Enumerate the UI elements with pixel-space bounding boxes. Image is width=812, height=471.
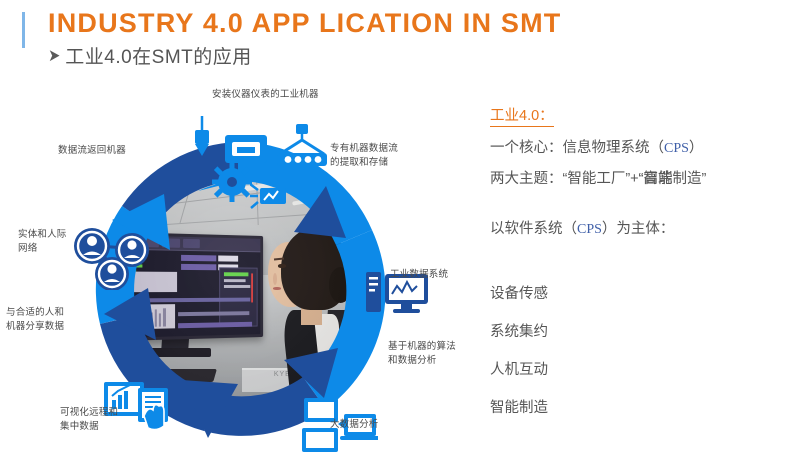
label-top-left: 数据流返回机器	[58, 144, 126, 158]
list-item: 人机互动	[490, 358, 790, 379]
label-bottom-left: 可视化远程和 集中数据	[60, 406, 118, 434]
capability-list: 设备传感 系统集约 人机互动 智能制造	[490, 282, 790, 434]
right-text-panel: 工业4.0： 一个核心：信息物理系统（CPS） 两大主题：“智能工厂”+“智能“…	[490, 104, 808, 251]
instrument-box-icon	[224, 134, 268, 164]
chevron-right-icon: ➤	[48, 47, 60, 64]
cycle-diagram: KYE	[8, 88, 478, 460]
line1-prefix: 一个核心：信息物理系统（	[490, 140, 664, 156]
label-upper-left: 实体和人际 网络	[18, 228, 67, 256]
person-badge	[95, 257, 129, 290]
chip-data-icon	[250, 180, 288, 210]
list-item: 系统集约	[490, 320, 790, 341]
spacer	[490, 200, 808, 220]
right-panel-heading: 工业4.0：	[490, 104, 554, 127]
label-left: 与合适的人和 机器分享数据	[6, 306, 64, 334]
right-panel-line-1: 一个核心：信息物理系统（CPS）	[490, 139, 808, 159]
line1-suffix: ）	[689, 140, 704, 156]
label-bottom: 大数据分析	[330, 418, 379, 432]
person-badge	[74, 228, 110, 264]
cycle-ring-wrapper: KYE	[78, 128, 398, 448]
line3-prefix: 以软件系统（	[490, 221, 577, 237]
page-subtitle: 工业4.0在SMT的应用	[65, 42, 252, 69]
list-item: 智能制造	[490, 396, 790, 417]
overlap-text-b: “高端	[639, 171, 673, 187]
overlapping-text-artifact: “智能“高端	[639, 170, 673, 190]
cps-term: CPS	[664, 141, 689, 156]
label-lower-right: 基于机器的算法 和数据分析	[388, 340, 456, 368]
list-item: 设备传感	[490, 282, 790, 303]
line3-suffix: ）为主体：	[602, 221, 675, 237]
page-title: INDUSTRY 4.0 APP LICATION IN SMT	[48, 8, 561, 39]
gear-icon	[212, 162, 252, 202]
label-upper-right: 专有机器数据流 的提取和存储	[330, 142, 398, 170]
line2-prefix: 两大主题：“智能工厂”+	[490, 171, 639, 187]
conveyor-icon	[274, 124, 330, 170]
sensor-probe-icon	[186, 116, 218, 168]
label-right: 工业数据系统	[390, 268, 448, 282]
subtitle-group: ➤ 工业4.0在SMT的应用	[47, 42, 252, 69]
label-top: 安装仪器仪表的工业机器	[212, 88, 319, 102]
cps-term: CPS	[577, 222, 602, 237]
title-accent-bar	[22, 12, 25, 48]
line2-suffix: 制造”	[672, 171, 706, 187]
right-panel-line-2: 两大主题：“智能工厂”+“智能“高端制造”	[490, 170, 808, 190]
people-network-icon	[70, 224, 156, 290]
slide-root: INDUSTRY 4.0 APP LICATION IN SMT ➤ 工业4.0…	[0, 0, 812, 471]
right-panel-line-3: 以软件系统（CPS）为主体：	[490, 220, 808, 240]
